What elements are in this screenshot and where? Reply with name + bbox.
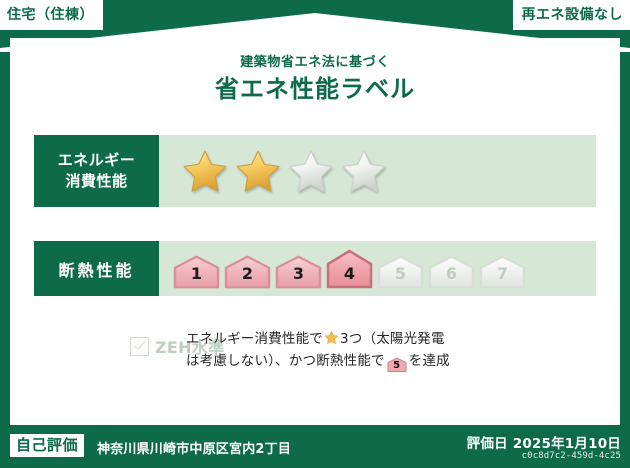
zeh-row: ZEH水準 エネルギー消費性能で 3つ（太陽光発電 は考慮しない）、かつ断熱性能… bbox=[34, 328, 596, 372]
insulation-level-badge: 3 bbox=[275, 255, 322, 289]
renewable-equipment-tag: 再エネ設備なし bbox=[513, 0, 630, 30]
energy-key-line1: エネルギー bbox=[58, 150, 136, 171]
insulation-level-badge: 2 bbox=[224, 255, 271, 289]
energy-performance-row: エネルギー 消費性能 bbox=[34, 135, 596, 207]
star-icon-empty bbox=[287, 148, 335, 194]
star-icon-filled bbox=[234, 148, 282, 194]
evaluation-date: 評価日 2025年1月10日 bbox=[467, 432, 621, 452]
star-icon bbox=[324, 330, 339, 345]
label-footer: 自己評価 神奈川県川崎市中原区宮内2丁目 評価日 2025年1月10日 c0c8… bbox=[0, 425, 630, 468]
zeh-desc-stars: 3つ（太陽光発電 bbox=[340, 331, 445, 347]
star-icon-empty bbox=[340, 148, 388, 194]
zeh-description: エネルギー消費性能で 3つ（太陽光発電 は考慮しない）、かつ断熱性能で 5 を達… bbox=[162, 328, 596, 372]
insulation-level-value: 7 bbox=[497, 266, 508, 289]
insulation-level-value: 4 bbox=[344, 266, 355, 289]
zeh-desc-part3: を達成 bbox=[409, 353, 450, 369]
property-address: 神奈川県川崎市中原区宮内2丁目 bbox=[97, 438, 291, 457]
zeh-mark: ZEH水準 bbox=[34, 328, 162, 358]
title-block: 建築物省エネ法に基づく 省エネ性能ラベル bbox=[10, 55, 620, 104]
insulation-performance-key: 断熱性能 bbox=[34, 241, 159, 296]
insulation-key-label: 断熱性能 bbox=[58, 257, 134, 281]
checkbox-unchecked-icon bbox=[130, 337, 149, 356]
insulation-level-scale: 1234567 bbox=[173, 249, 526, 289]
insulation-level-badge: 7 bbox=[479, 255, 526, 289]
insulation-level-badge: 4 bbox=[326, 249, 373, 289]
star-icon-filled bbox=[181, 148, 229, 194]
zeh-desc-part1: エネルギー消費性能で bbox=[186, 331, 323, 347]
insulation-level-value: 2 bbox=[242, 266, 253, 289]
energy-performance-key: エネルギー 消費性能 bbox=[34, 135, 159, 207]
insulation-badge-inline: 5 bbox=[387, 357, 407, 372]
star-rating bbox=[181, 148, 388, 194]
insulation-level-badge: 1 bbox=[173, 255, 220, 289]
zeh-desc-part2: は考慮しない）、かつ断熱性能で bbox=[186, 353, 385, 369]
label-identifier: c0c8d7c2-459d-4c25 bbox=[522, 451, 621, 461]
energy-performance-value bbox=[159, 135, 596, 207]
evaluation-type-badge: 自己評価 bbox=[10, 434, 84, 457]
energy-key-line2: 消費性能 bbox=[65, 171, 127, 192]
insulation-level-badge: 5 bbox=[377, 255, 424, 289]
page-title: 省エネ性能ラベル bbox=[10, 74, 620, 104]
label-card: 建築物省エネ法に基づく 省エネ性能ラベル エネルギー 消費性能 断熱性能 bbox=[10, 38, 620, 425]
insulation-level-value: 6 bbox=[446, 266, 457, 289]
energy-performance-label: 住宅（住棟） 再エネ設備なし 建築物省エネ法に基づく 省エネ性能ラベル エネルギ… bbox=[0, 0, 630, 468]
renewable-equipment-label: 再エネ設備なし bbox=[522, 0, 624, 30]
insulation-level-value: 3 bbox=[293, 266, 304, 289]
insulation-level-badge: 6 bbox=[428, 255, 475, 289]
title-subtitle: 建築物省エネ法に基づく bbox=[10, 55, 620, 71]
insulation-badge-inline-value: 5 bbox=[387, 357, 407, 375]
building-type-label: 住宅（住棟） bbox=[7, 0, 94, 30]
evaluation-type-label: 自己評価 bbox=[16, 436, 78, 454]
insulation-level-value: 1 bbox=[191, 266, 202, 289]
building-type-tag: 住宅（住棟） bbox=[0, 0, 103, 30]
insulation-performance-value: 1234567 bbox=[159, 241, 596, 296]
insulation-performance-row: 断熱性能 1234567 bbox=[34, 241, 596, 296]
insulation-level-value: 5 bbox=[395, 266, 406, 289]
